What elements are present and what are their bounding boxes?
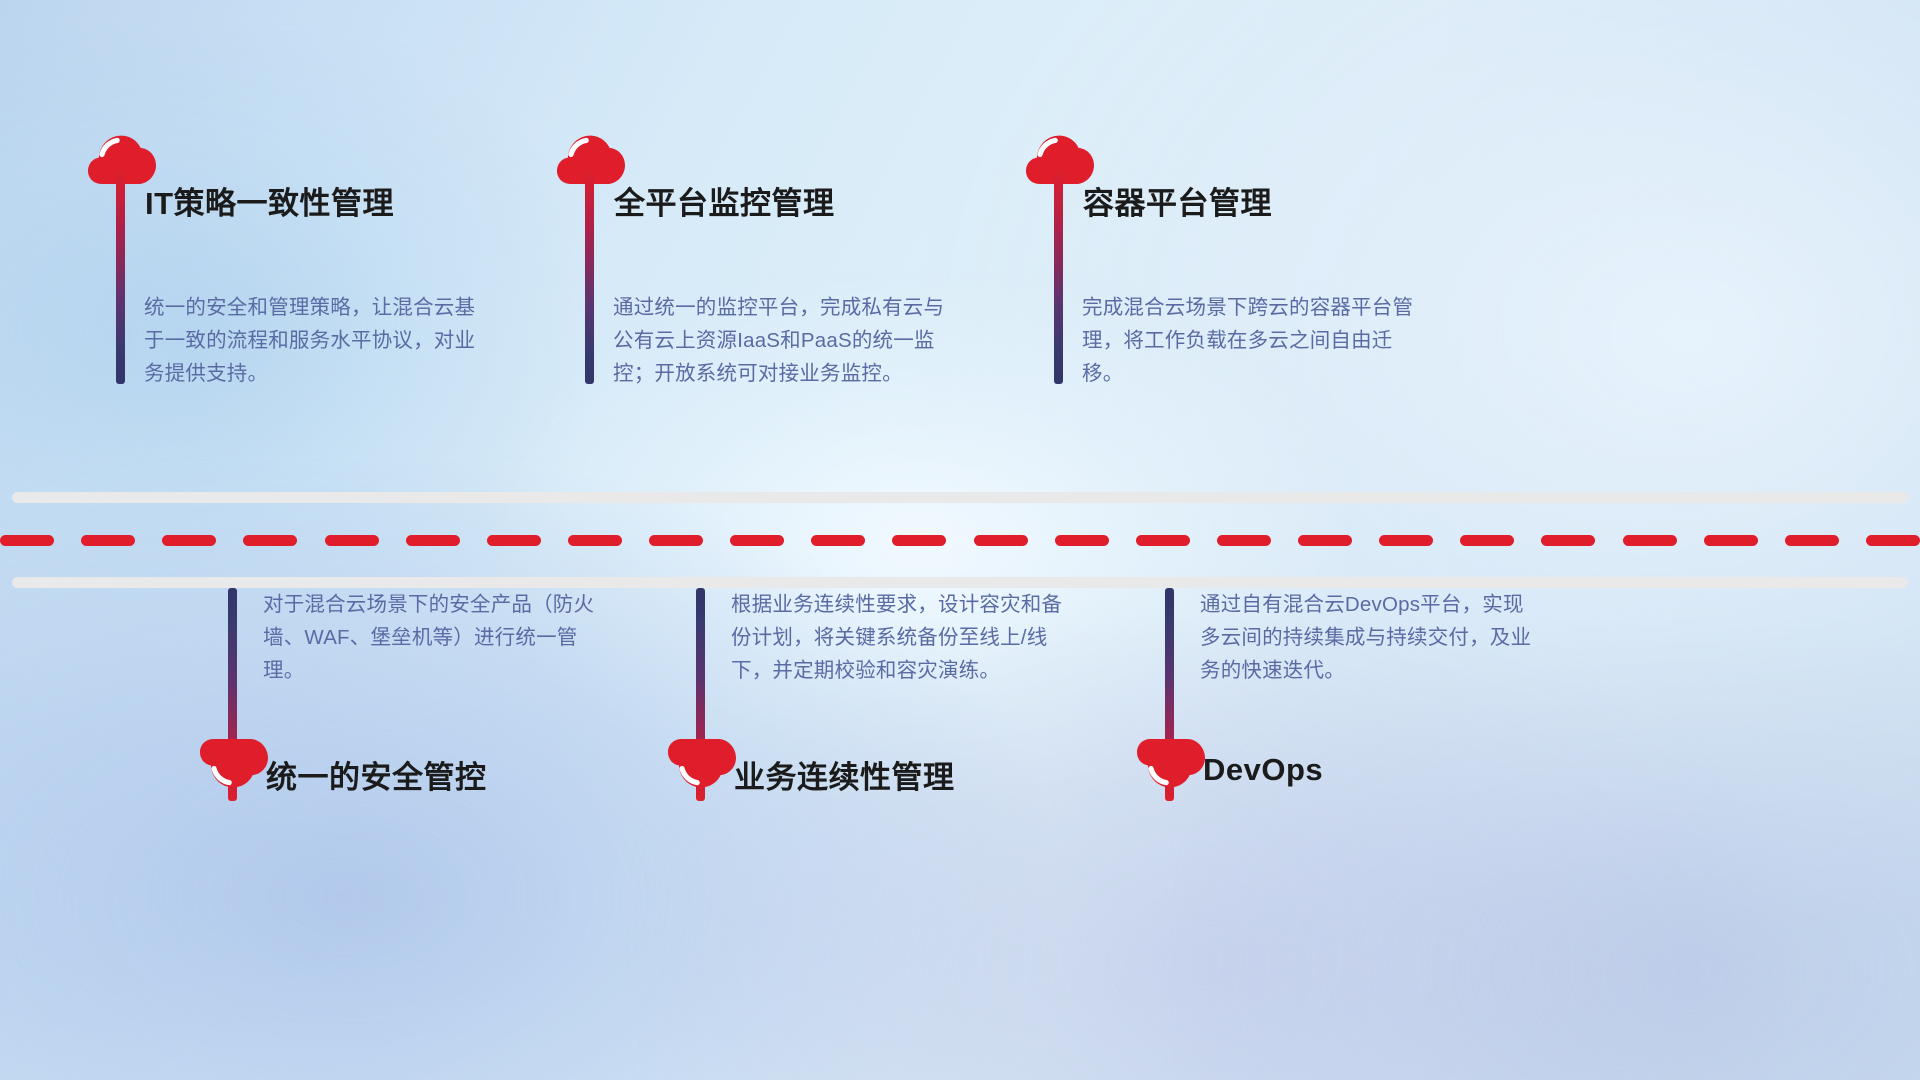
card-heading: DevOps <box>1203 752 1323 788</box>
dash-segment <box>1785 535 1839 546</box>
stem-line <box>116 170 125 384</box>
stem-line <box>1054 170 1063 384</box>
dash-segment <box>568 535 622 546</box>
dash-segment <box>0 535 54 546</box>
dash-segment <box>162 535 216 546</box>
card-body: 统一的安全和管理策略，让混合云基于一致的流程和服务水平协议，对业务提供支持。 <box>144 291 484 390</box>
stem-line <box>585 170 594 384</box>
dash-segment <box>1379 535 1433 546</box>
divider-bar-top <box>12 492 1908 503</box>
dashed-separator <box>0 535 1920 546</box>
card-body: 通过自有混合云DevOps平台，实现多云间的持续集成与持续交付，及业务的快速迭代… <box>1200 588 1540 687</box>
dash-segment <box>1460 535 1514 546</box>
top-row: IT策略一致性管理 统一的安全和管理策略，让混合云基于一致的流程和服务水平协议，… <box>0 0 1920 492</box>
dash-segment <box>81 535 135 546</box>
cloud-icon <box>1137 738 1205 788</box>
dash-segment <box>1541 535 1595 546</box>
dash-segment <box>487 535 541 546</box>
dash-segment <box>730 535 784 546</box>
dash-segment <box>1866 535 1920 546</box>
card-body: 对于混合云场景下的安全产品（防火墙、WAF、堡垒机等）进行统一管理。 <box>263 588 603 687</box>
dash-segment <box>325 535 379 546</box>
dash-segment <box>1298 535 1352 546</box>
dash-segment <box>1136 535 1190 546</box>
dash-segment <box>974 535 1028 546</box>
card-body: 通过统一的监控平台，完成私有云与公有云上资源IaaS和PaaS的统一监控；开放系… <box>613 291 953 390</box>
dash-segment <box>649 535 703 546</box>
section-divider <box>0 492 1920 588</box>
cloud-icon <box>200 738 268 788</box>
dash-segment <box>1704 535 1758 546</box>
bottom-row: 对于混合云场景下的安全产品（防火墙、WAF、堡垒机等）进行统一管理。 统一的安全… <box>0 588 1920 1080</box>
dash-segment <box>406 535 460 546</box>
card-heading: 统一的安全管控 <box>266 752 487 797</box>
dash-segment <box>1055 535 1109 546</box>
dash-segment <box>1217 535 1271 546</box>
dash-segment <box>243 535 297 546</box>
card-heading: 全平台监控管理 <box>614 178 835 223</box>
card-heading: 业务连续性管理 <box>734 752 955 797</box>
dash-segment <box>1623 535 1677 546</box>
dash-segment <box>811 535 865 546</box>
card-body: 完成混合云场景下跨云的容器平台管理，将工作负载在多云之间自由迁移。 <box>1082 291 1422 390</box>
dash-segment <box>892 535 946 546</box>
card-body: 根据业务连续性要求，设计容灾和备份计划，将关键系统备份至线上/线下，并定期校验和… <box>731 588 1071 687</box>
card-heading: 容器平台管理 <box>1083 178 1272 223</box>
divider-bar-bottom <box>12 577 1908 588</box>
card-heading: IT策略一致性管理 <box>145 178 394 223</box>
cloud-icon <box>668 738 736 788</box>
